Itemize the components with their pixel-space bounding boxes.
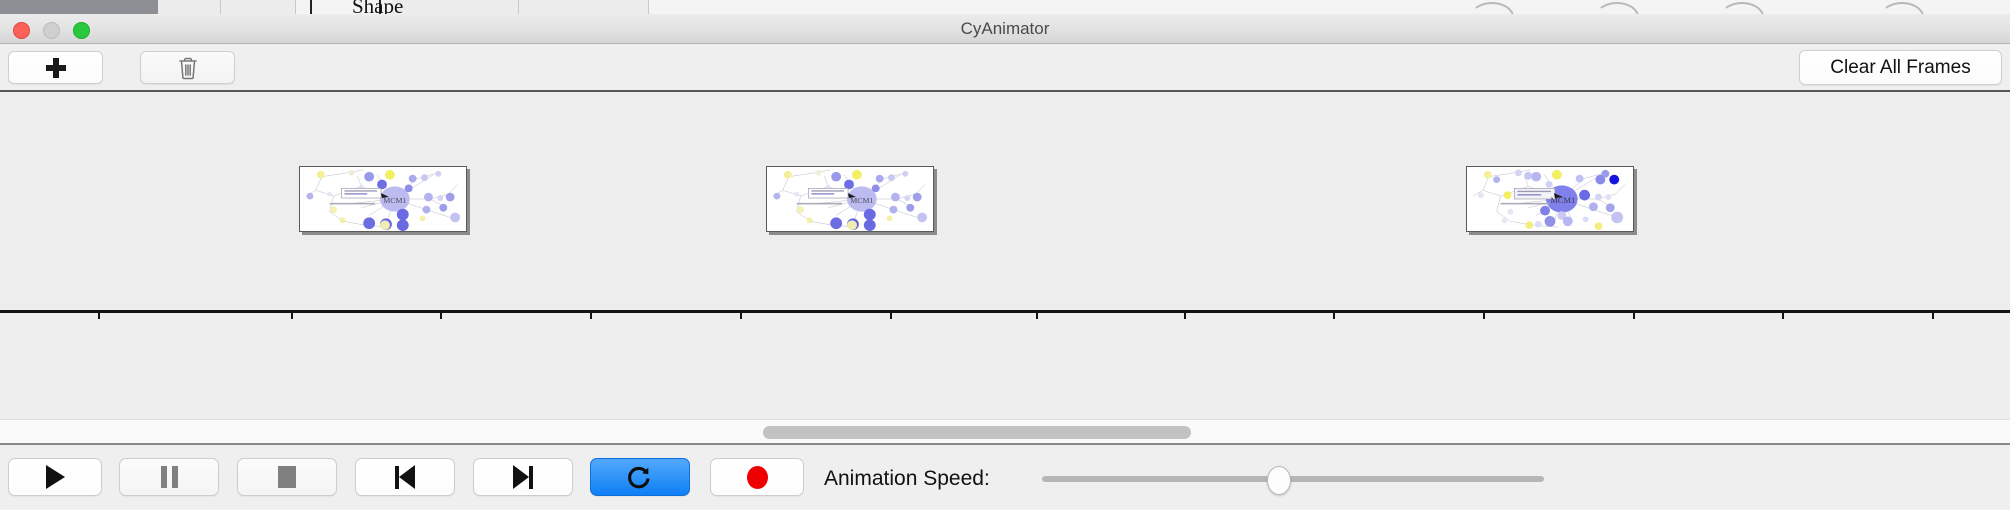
axis-tick-major [1483,313,1485,319]
background-toolbar-cell [519,0,649,14]
first-frame-button[interactable] [355,458,455,496]
pause-button[interactable] [119,458,219,496]
stop-button[interactable] [237,458,337,496]
axis-tick-major [291,313,293,319]
background-toolbar-cell [158,0,221,14]
axis-tick-minor [740,313,742,319]
axis-tick-minor [1333,313,1335,319]
svg-text:MCM1: MCM1 [1550,196,1575,205]
axis-tick-minor [1633,313,1635,319]
network-thumbnail-image: MCM1 [300,167,466,231]
play-icon [46,465,65,489]
axis-tick-major [890,313,892,319]
loop-icon [627,464,653,490]
play-button[interactable] [8,458,102,496]
frame-thumbnail[interactable]: MCM1 [1466,166,1634,232]
background-arc-decoration [1470,2,1514,14]
delete-frame-button[interactable] [140,51,235,84]
add-frame-button[interactable] [8,51,103,84]
clear-all-frames-button[interactable]: Clear All Frames [1799,50,2002,85]
network-thumbnail-image: MCM1 [767,167,933,231]
trash-icon [177,56,199,80]
stop-icon [278,466,296,488]
animation-speed-slider-handle[interactable] [1267,466,1291,495]
background-toolbar-cell [392,0,519,14]
skip-back-icon [395,465,415,489]
window-title: CyAnimator [0,14,2010,44]
record-button[interactable] [710,458,804,496]
background-arc-decoration [1880,2,1924,14]
title-bar: CyAnimator [0,14,2010,44]
horizontal-scrollbar-track[interactable] [0,419,2010,445]
axis-tick-major [1184,313,1186,319]
axis-tick-minor [1036,313,1038,319]
background-window-label: Shape [352,0,403,14]
background-arc-decoration [1720,2,1764,14]
axis-tick-minor [440,313,442,319]
skip-forward-icon [513,465,533,489]
axis-tick-minor [1932,313,1934,319]
frame-thumbnail[interactable]: MCM1 [766,166,934,232]
background-window-strip: Shape [0,0,2010,14]
axis-tick-major [1782,313,1784,319]
plus-icon [46,58,66,78]
loop-button[interactable] [590,458,690,496]
animation-speed-label: Animation Speed: [824,447,990,510]
background-window-sidebar [0,0,158,14]
background-tick [310,0,312,14]
background-toolbar-cell [221,0,296,14]
axis-tick-major [590,313,592,319]
clear-all-frames-label: Clear All Frames [1830,57,1970,79]
horizontal-scrollbar-thumb[interactable] [763,426,1191,439]
animation-speed-slider[interactable] [1042,476,1544,482]
timeline-axis [0,310,2010,313]
last-frame-button[interactable] [473,458,573,496]
pause-icon [161,466,178,488]
background-arc-decoration [1595,2,1639,14]
record-icon [747,466,768,489]
frame-thumbnail[interactable]: MCM1 [299,166,467,232]
playback-control-bar: Animation Speed: [0,447,2010,510]
network-thumbnail-image: MCM1 [1467,167,1633,231]
cyanimator-window: Shape CyAnimator Clear All Frames [0,0,2010,510]
toolbar: Clear All Frames [0,45,2010,92]
timeline-panel[interactable]: MCM1 [0,92,2010,319]
axis-tick-minor [98,313,100,319]
